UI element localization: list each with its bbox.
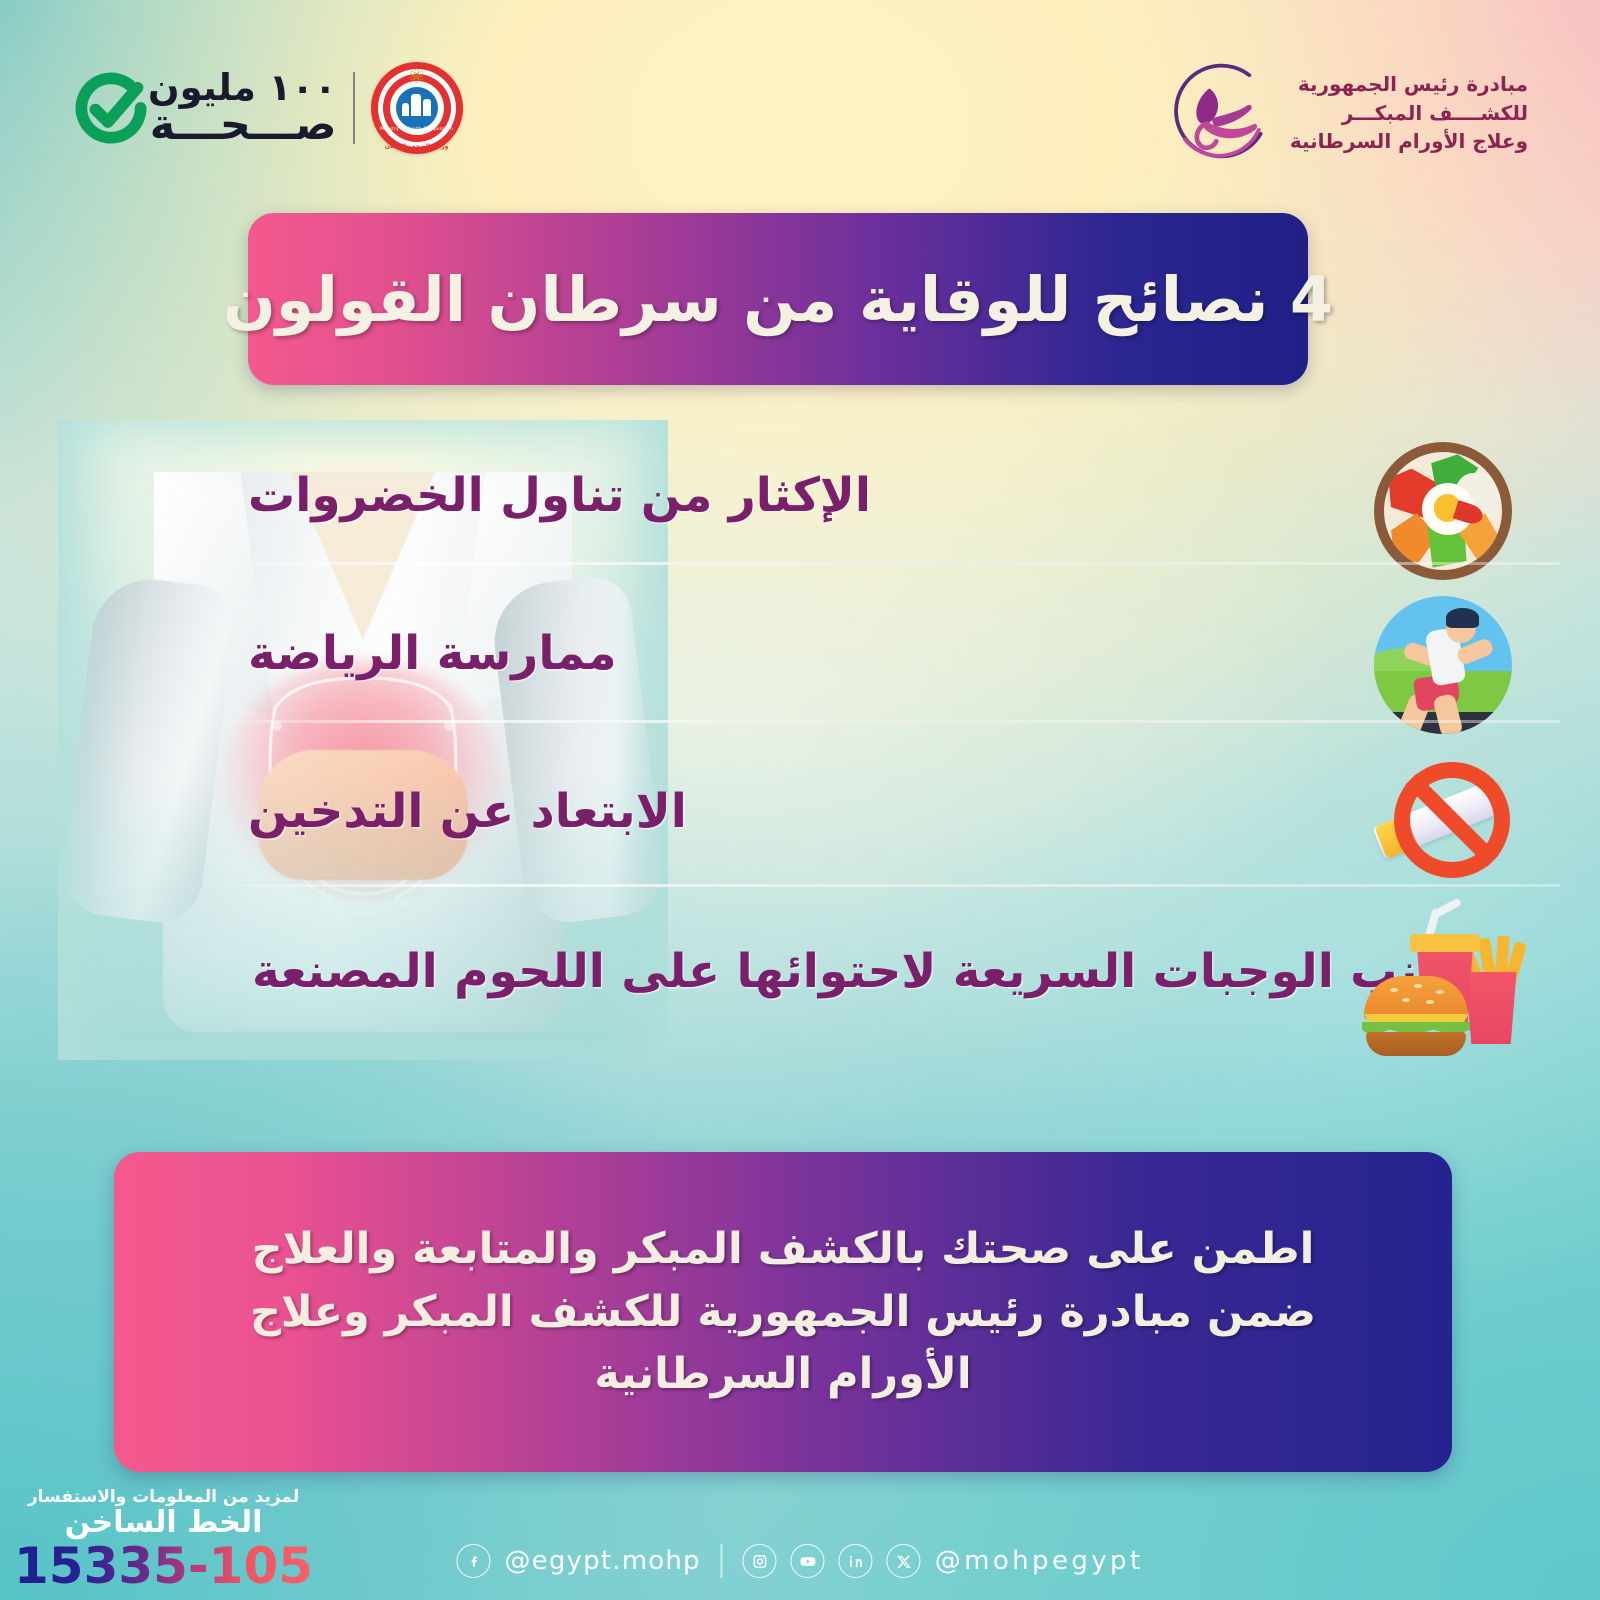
social-divider xyxy=(721,1544,723,1578)
tip-row: تجنب الوجبات السريعة لاحتوائها على اللحو… xyxy=(0,900,1600,1058)
moh-logo-group: ⚛ Ministry of Health & Population وزارة … xyxy=(72,62,463,154)
linkedin-icon[interactable] xyxy=(839,1544,873,1578)
initiative-line-2: للكشــــف المبكـــر xyxy=(1290,99,1528,127)
initiative-line-3: وعلاج الأورام السرطانية xyxy=(1290,127,1528,155)
youtube-icon[interactable] xyxy=(791,1544,825,1578)
eagle-emblem-icon: ⚛ xyxy=(406,64,428,88)
tip-divider xyxy=(190,884,1560,887)
hotline-block: لمزيد من المعلومات والاستفسار الخط الساخ… xyxy=(14,1487,313,1592)
social-links: @egypt.mohp @mohpegypt xyxy=(456,1544,1143,1578)
tip-label-3: الابتعاد عن التدخين xyxy=(248,784,687,839)
tip-divider xyxy=(190,562,1560,565)
campaign-line-2: صـــحـــة xyxy=(148,105,337,146)
tip-label-1: الإكثار من تناول الخضروات xyxy=(248,468,871,523)
fast-food-icon xyxy=(1362,910,1522,1060)
bottom-banner: اطمن على صحتك بالكشف المبكر والمتابعة وا… xyxy=(114,1152,1452,1472)
presidential-initiative-logo-group: مبادرة رئيس الجمهورية للكشــــف المبكـــ… xyxy=(1168,60,1528,166)
banner-line-1: اطمن على صحتك بالكشف المبكر والمتابعة وا… xyxy=(252,1218,1315,1281)
hotline-label: الخط الساخن xyxy=(14,1507,313,1539)
ministry-of-health-seal-icon: ⚛ Ministry of Health & Population وزارة … xyxy=(371,62,463,154)
page-title: 4 نصائح للوقاية من سرطان القولون xyxy=(223,263,1333,336)
initiative-text: مبادرة رئيس الجمهورية للكشــــف المبكـــ… xyxy=(1290,70,1528,155)
hotline-number[interactable]: 15335-105 xyxy=(14,1540,313,1593)
banner-line-2: ضمن مبادرة رئيس الجمهورية للكشف المبكر و… xyxy=(250,1281,1316,1344)
tip-label-4: تجنب الوجبات السريعة لاحتوائها على اللحو… xyxy=(252,944,1471,999)
initiative-line-1: مبادرة رئيس الجمهورية xyxy=(1290,70,1528,98)
footer: لمزيد من المعلومات والاستفسار الخط الساخ… xyxy=(0,1460,1600,1600)
family-figures-icon xyxy=(396,87,438,129)
hundred-million-health-logo: ١٠٠ مليون صـــحـــة xyxy=(72,69,337,147)
tip-row: ممارسة الرياضة xyxy=(0,578,1600,736)
logo-divider xyxy=(353,72,355,144)
banner-line-3: الأورام السرطانية xyxy=(594,1343,971,1406)
seal-text-ar: وزارة الصحة والسكان xyxy=(371,143,463,150)
shared-social-handle[interactable]: @mohpegypt xyxy=(935,1546,1144,1576)
green-check-icon xyxy=(72,69,150,147)
seal-text-en: Ministry of Health & Population xyxy=(371,127,463,132)
facebook-handle[interactable]: @egypt.mohp xyxy=(504,1546,700,1576)
x-twitter-icon[interactable] xyxy=(887,1544,921,1578)
title-banner: 4 نصائح للوقاية من سرطان القولون xyxy=(248,213,1308,385)
instagram-icon[interactable] xyxy=(743,1544,777,1578)
tip-row: الابتعاد عن التدخين xyxy=(0,736,1600,894)
running-person-icon xyxy=(1374,596,1512,734)
ribbon-bird-icon xyxy=(1168,60,1272,166)
no-smoking-icon xyxy=(1368,750,1518,890)
hotline-caption: لمزيد من المعلومات والاستفسار xyxy=(14,1487,313,1507)
tip-row: الإكثار من تناول الخضروات xyxy=(0,420,1600,578)
tip-divider xyxy=(190,720,1560,723)
tip-label-2: ممارسة الرياضة xyxy=(248,626,617,681)
salad-bowl-icon xyxy=(1374,442,1512,580)
header: ⚛ Ministry of Health & Population وزارة … xyxy=(0,0,1600,205)
facebook-icon[interactable] xyxy=(456,1544,490,1578)
